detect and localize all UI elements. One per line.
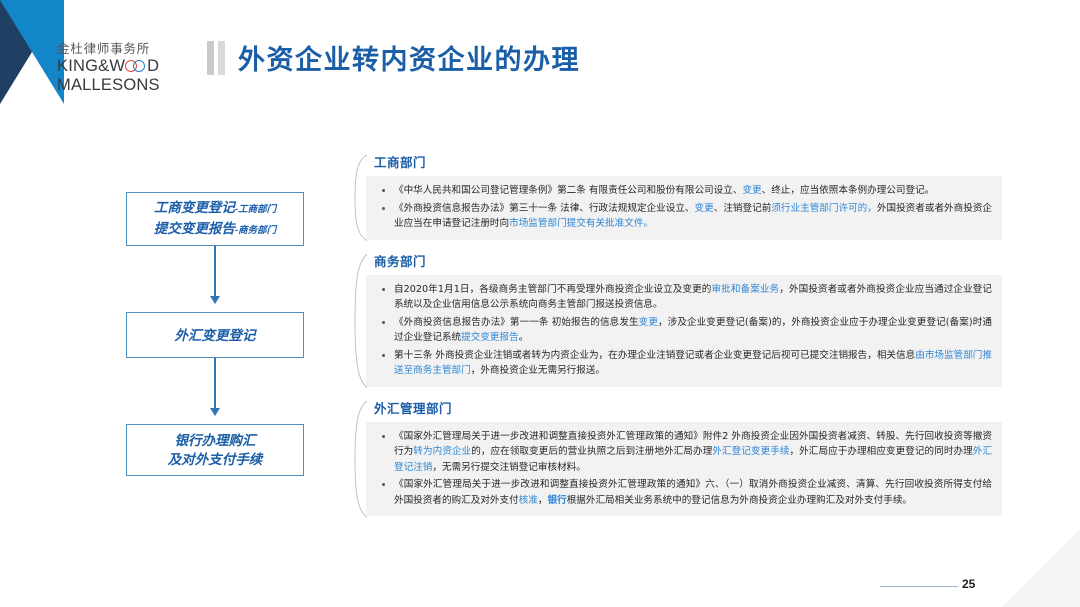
highlighted-text: 须行业主管部门许可的，: [771, 203, 877, 214]
flow-label-main: 外汇变更登记: [175, 328, 256, 343]
corner-logo-mark: [0, 0, 64, 104]
body-text: 、注销登记前: [714, 203, 772, 214]
card-bullet-2: 《外商投资信息报告办法》第三十一条 法律、行政法规规定企业设立、变更、注销登记前…: [376, 201, 992, 232]
process-flow-diagram: 工商变更登记-工商部门提交变更报告-商务部门 外汇变更登记 银行办理购汇及对外支…: [126, 192, 304, 476]
card-heading: 工商部门: [366, 152, 1002, 171]
flow-step-2-line-1: 外汇变更登记: [175, 326, 256, 345]
highlighted-text: 变更: [742, 185, 761, 196]
card-bullet-2: 《外商投资信息报告办法》第一一条 初始报告的信息发生变更，涉及企业变更登记(备案…: [376, 315, 992, 346]
body-text: ，: [538, 495, 548, 506]
body-text: 。: [519, 332, 529, 343]
corner-fade-shape: [1002, 529, 1080, 607]
body-text: 《中华人民共和国公司登记管理条例》第二条 有限责任公司和股份有限公司设立、: [394, 185, 742, 196]
body-text: ，外商投资企业无需另行报送。: [471, 365, 605, 376]
body-text: 自2020年1月1日，各级商务主管部门不再受理外商投资企业设立及变更的: [394, 284, 711, 295]
card-bullet-1: 《国家外汇管理局关于进一步改进和调整直接投资外汇管理政策的通知》附件2 外商投资…: [376, 429, 992, 476]
body-text: 根据外汇局相关业务系统中的登记信息为外商投资企业办理购汇及对外支付手续。: [567, 495, 912, 506]
flow-step-3-yinhang-goahui: 银行办理购汇及对外支付手续: [126, 424, 304, 476]
firm-logo-en-text: KING&W: [57, 57, 125, 75]
flow-step-2-waihui-bianggeng: 外汇变更登记: [126, 312, 304, 358]
card-heading: 外汇管理部门: [366, 398, 1002, 417]
slide-canvas: 金杜律师事务所 KING&WD MALLESONS 外资企业转内资企业的办理 工…: [0, 0, 1080, 607]
card-brace-icon: [354, 400, 368, 519]
double-o-circles-icon: [125, 59, 147, 73]
firm-logo-english-line1: KING&WD: [57, 57, 183, 76]
flow-label-main: 提交变更报告: [154, 221, 235, 236]
reference-card-2: 商务部门自2020年1月1日，各级商务主管部门不再受理外商投资企业设立及变更的审…: [366, 251, 1002, 387]
flow-label-department: -商务部门: [235, 225, 276, 236]
flow-arrow-2-icon: [214, 358, 216, 415]
flow-step-1-gongshang-bianggeng: 工商变更登记-工商部门提交变更报告-商务部门: [126, 192, 304, 246]
flow-step-1-line-1: 工商变更登记-工商部门: [154, 198, 276, 219]
flow-label-main: 及对外支付手续: [168, 452, 263, 467]
highlighted-text: 提交变更报告: [461, 332, 519, 343]
highlighted-text: 审批和备案业务: [711, 284, 779, 295]
body-text: 《外商投资信息报告办法》第一一条 初始报告的信息发生: [394, 317, 639, 328]
firm-logo-english-line2: MALLESONS: [57, 76, 183, 95]
flow-step-3-line-1: 银行办理购汇: [175, 431, 256, 450]
card-brace-icon: [354, 154, 368, 242]
card-bullet-2: 《国家外汇管理局关于进一步改进和调整直接投资外汇管理政策的通知》六、（一）取消外…: [376, 477, 992, 508]
highlighted-text-bold: 银行: [548, 495, 567, 506]
page-number: 25: [962, 577, 975, 591]
highlighted-text: 核准: [519, 495, 538, 506]
footer-divider: [880, 586, 958, 587]
highlighted-text: 外汇登记变更手续: [712, 446, 789, 457]
firm-logo-en-tail: D: [147, 57, 159, 75]
flow-label-department: -工商部门: [235, 204, 276, 215]
body-text: 的，应在领取变更后的营业执照之后到注册地外汇局办理: [471, 446, 712, 457]
highlighted-text: 转为内资企业: [413, 446, 471, 457]
card-bullet-1: 自2020年1月1日，各级商务主管部门不再受理外商投资企业设立及变更的审批和备案…: [376, 282, 992, 313]
card-bullet-3: 第十三条 外商投资企业注销或者转为内资企业为，在办理企业注销登记或者企业变更登记…: [376, 348, 992, 379]
card-body: 《中华人民共和国公司登记管理条例》第二条 有限责任公司和股份有限公司设立、变更、…: [366, 176, 1002, 240]
blue-triangle-shape: [0, 0, 64, 104]
card-body: 自2020年1月1日，各级商务主管部门不再受理外商投资企业设立及变更的审批和备案…: [366, 275, 1002, 387]
flow-arrow-1-icon: [214, 246, 216, 303]
highlighted-text: 变更: [639, 317, 658, 328]
body-text: 《外商投资信息报告办法》第三十一条 法律、行政法规规定企业设立、: [394, 203, 695, 214]
reference-card-1: 工商部门《中华人民共和国公司登记管理条例》第二条 有限责任公司和股份有限公司设立…: [366, 152, 1002, 240]
body-text: ，外汇局应于办理相应变更登记的同时办理: [790, 446, 973, 457]
firm-logo-chinese: 金杜律师事务所: [57, 42, 183, 57]
reference-cards: 工商部门《中华人民共和国公司登记管理条例》第二条 有限责任公司和股份有限公司设立…: [366, 152, 1002, 527]
card-body: 《国家外汇管理局关于进一步改进和调整直接投资外汇管理政策的通知》附件2 外商投资…: [366, 422, 1002, 517]
body-text: ，无需另行提交注销登记审核材料。: [432, 462, 586, 473]
flow-label-main: 银行办理购汇: [175, 433, 256, 448]
firm-logo: 金杜律师事务所 KING&WD MALLESONS: [57, 42, 183, 95]
reference-card-3: 外汇管理部门《国家外汇管理局关于进一步改进和调整直接投资外汇管理政策的通知》附件…: [366, 398, 1002, 517]
highlighted-text: 变更: [695, 203, 714, 214]
highlighted-text: 市场监管部门提交有关批准文件。: [509, 218, 653, 229]
card-bullet-1: 《中华人民共和国公司登记管理条例》第二条 有限责任公司和股份有限公司设立、变更、…: [376, 183, 992, 199]
page-title-block: 外资企业转内资企业的办理: [207, 38, 580, 77]
flow-step-1-line-2: 提交变更报告-商务部门: [154, 219, 276, 240]
title-accent-bars-icon: [207, 41, 225, 75]
body-text: 第十三条 外商投资企业注销或者转为内资企业为，在办理企业注销登记或者企业变更登记…: [394, 350, 915, 361]
flow-label-main: 工商变更登记: [154, 200, 235, 215]
body-text: 、终止，应当依照本条例办理公司登记。: [762, 185, 935, 196]
flow-step-3-line-2: 及对外支付手续: [168, 450, 263, 469]
card-heading: 商务部门: [366, 251, 1002, 270]
page-title: 外资企业转内资企业的办理: [238, 38, 580, 77]
card-brace-icon: [354, 253, 368, 389]
